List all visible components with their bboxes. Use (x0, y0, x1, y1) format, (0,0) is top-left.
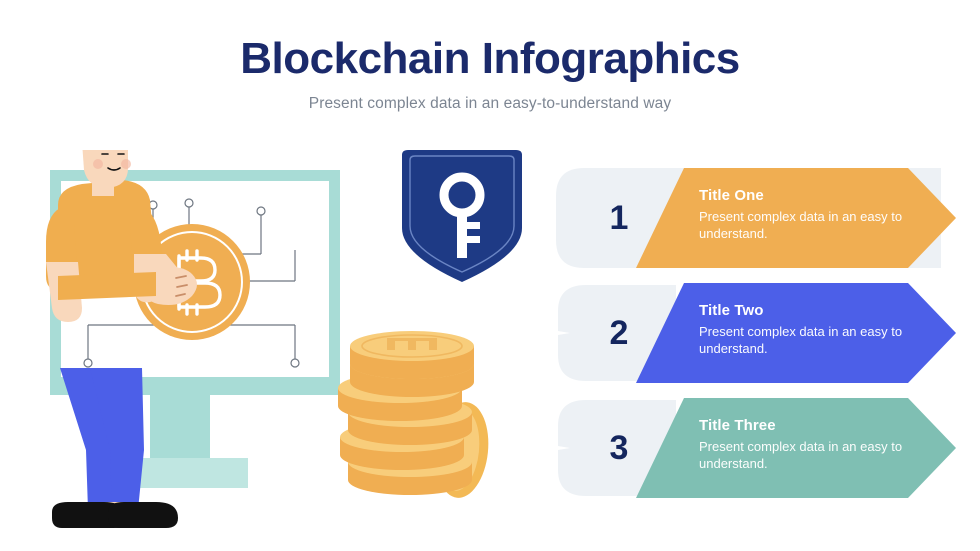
shield-key-icon (402, 150, 522, 282)
step-row-1[interactable]: 1 Title One Present complex data in an e… (556, 168, 956, 268)
step-1-description: Present complex data in an easy to under… (699, 208, 909, 243)
step-2-description: Present complex data in an easy to under… (699, 323, 909, 358)
step-1-text: Title One Present complex data in an eas… (699, 187, 909, 243)
step-3-text: Title Three Present complex data in an e… (699, 417, 909, 473)
step-3-number: 3 (584, 398, 654, 498)
page-title: Blockchain Infographics (0, 36, 980, 82)
step-row-2[interactable]: 2 Title Two Present complex data in an e… (556, 283, 956, 383)
slide-canvas: Blockchain Infographics Present complex … (0, 0, 980, 551)
header: Blockchain Infographics Present complex … (0, 36, 980, 113)
blockchain-illustration (30, 150, 550, 530)
step-2-number: 2 (584, 283, 654, 383)
step-row-3[interactable]: 3 Title Three Present complex data in an… (556, 398, 956, 498)
step-3-description: Present complex data in an easy to under… (699, 438, 909, 473)
step-2-text: Title Two Present complex data in an eas… (699, 302, 909, 358)
step-1-title: Title One (699, 187, 909, 205)
step-1-number: 1 (584, 168, 654, 268)
page-subtitle: Present complex data in an easy-to-under… (0, 95, 980, 113)
step-2-title: Title Two (699, 302, 909, 320)
steps-list: 1 Title One Present complex data in an e… (556, 168, 956, 512)
coin-stack-icon (338, 331, 493, 500)
step-3-title: Title Three (699, 417, 909, 435)
